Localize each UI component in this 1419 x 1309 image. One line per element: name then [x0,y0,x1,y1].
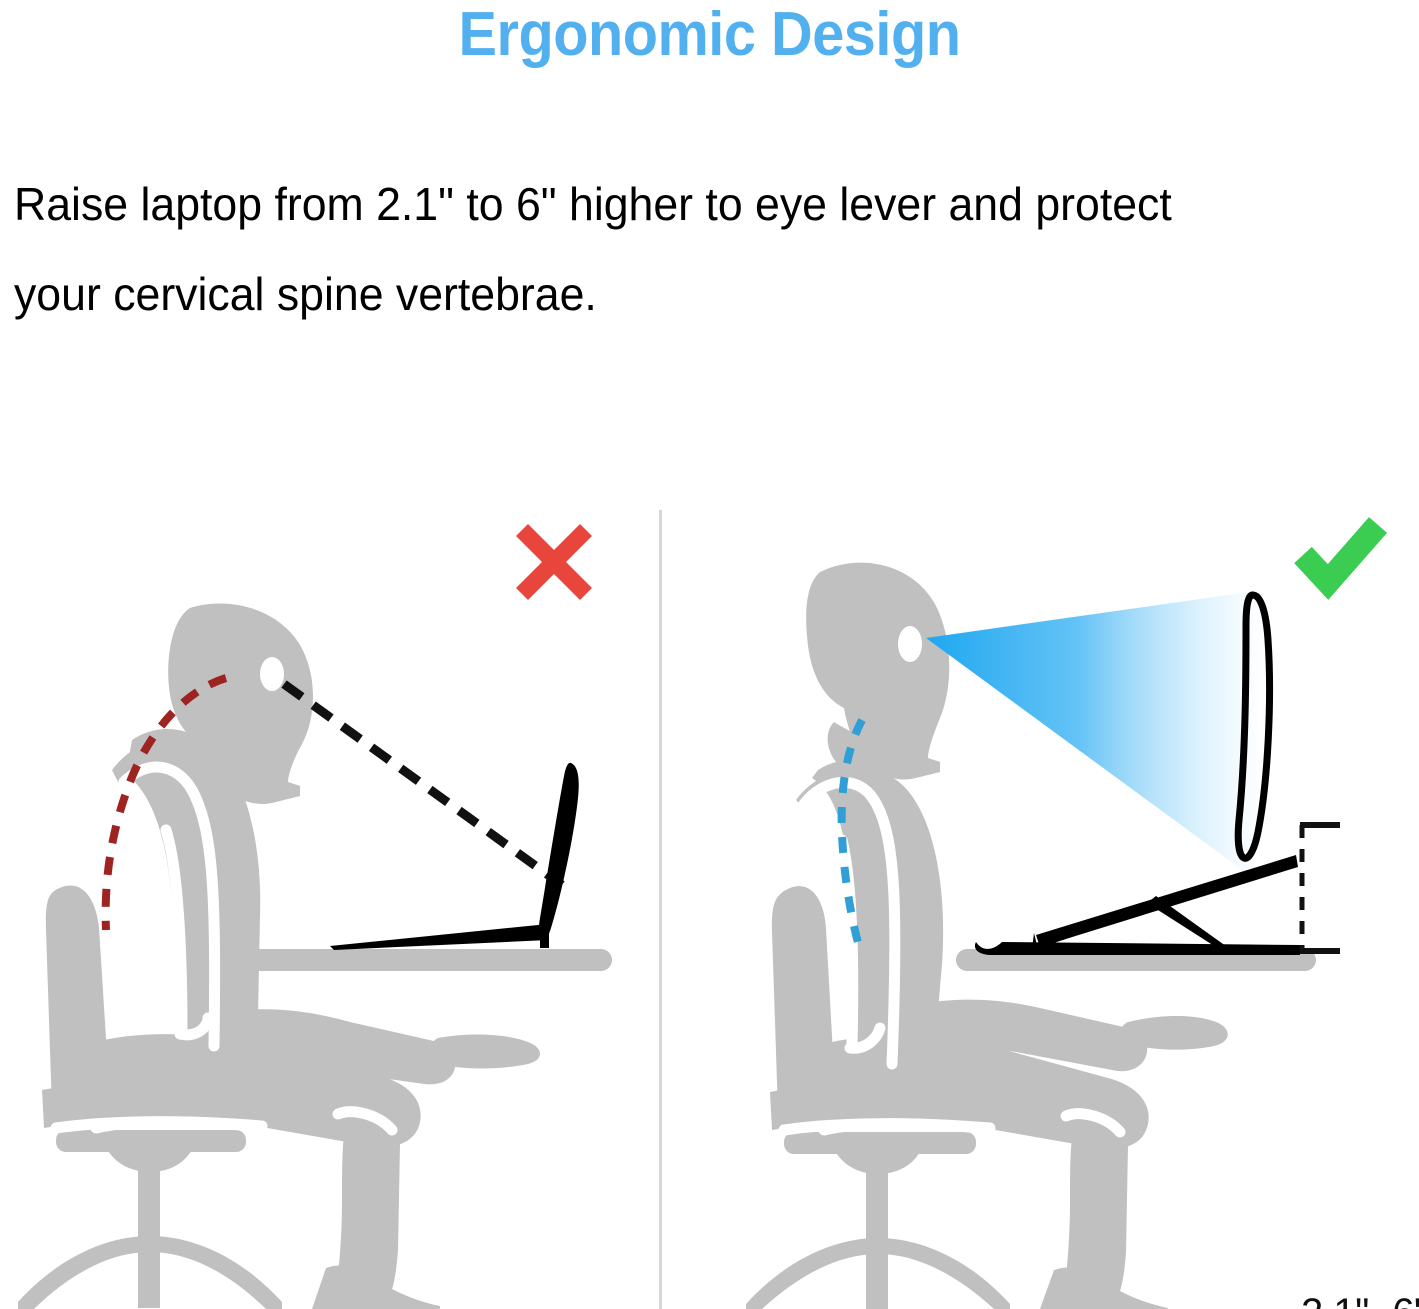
laptop-screen [539,763,579,941]
right-panel-illustration [700,430,1419,1309]
vision-cone [926,590,1263,880]
chair-column [866,1154,888,1309]
laptop-base [330,924,548,950]
desk-surface [236,949,612,971]
stand-base-bar [975,942,1300,955]
ergonomic-design-infographic: Ergonomic Design Raise laptop from 2.1" … [0,0,1419,1309]
height-dimension-label: 2.1"- 6" [1301,1291,1419,1309]
height-dimension [1300,825,1340,951]
laptop-flat [330,763,579,950]
chair-column [138,1152,160,1308]
hand [1121,1016,1228,1050]
stand-rear-strut [1147,896,1230,949]
check-icon [1303,525,1378,582]
subtitle-line-1: Raise laptop from 2.1" to 6" higher to e… [14,160,1353,250]
page-title: Ergonomic Design [50,2,1370,67]
laptop-hinge [540,924,549,948]
hand [431,1035,540,1069]
left-panel-illustration [0,430,660,1309]
eye [898,626,922,662]
cross-icon [522,530,586,594]
comparison-figures: 2.1"- 6" [0,430,1419,1309]
subtitle-line-2: your cervical spine vertebrae. [14,250,1353,340]
page-subtitle: Raise laptop from 2.1" to 6" higher to e… [14,160,1353,339]
eye [260,657,284,691]
sight-line-bad [284,684,562,885]
